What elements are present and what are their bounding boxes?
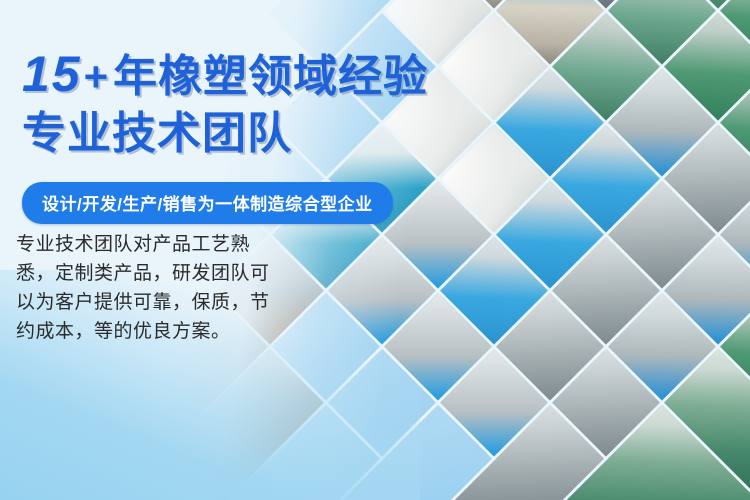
tile-conveyor xyxy=(661,0,750,183)
text-panel: 15+年橡塑领域经验 专业技术团队 设计/开发/生产/销售为一体制造综合型企业 … xyxy=(0,0,470,500)
tile-crowd xyxy=(437,0,663,71)
tile-benches xyxy=(549,405,750,500)
business-scope-badge: 设计/开发/生产/销售为一体制造综合型企业 xyxy=(22,182,393,224)
tile-crowd xyxy=(437,0,663,183)
plus-sign: + xyxy=(84,53,114,100)
tile-lab xyxy=(437,69,663,295)
tile-mold-press xyxy=(549,0,750,71)
headline-line-2: 专业技术团队 xyxy=(22,108,292,160)
tile-inspect xyxy=(549,293,750,500)
tile-assembly xyxy=(661,0,750,71)
tile-machine xyxy=(549,181,750,407)
tile-assembly xyxy=(493,13,719,239)
tile-conveyor xyxy=(661,293,750,500)
tile-machine xyxy=(437,405,663,500)
tile-lab xyxy=(437,181,663,407)
headline-line-1-rest: 年橡塑领域经验 xyxy=(113,52,428,101)
company-strength-banner: 15+年橡塑领域经验 专业技术团队 设计/开发/生产/销售为一体制造综合型企业 … xyxy=(0,0,750,500)
headline-line-1: 15+年橡塑领域经验 xyxy=(22,48,428,103)
tile-conveyor xyxy=(661,69,750,295)
tile-inspect xyxy=(549,69,750,295)
tile-machine xyxy=(437,293,663,500)
body-copy: 专业技术团队对产品工艺熟悉，定制类产品，研发团队可以为客户提供可靠，保质，节约成… xyxy=(16,230,284,346)
tile-machine xyxy=(493,237,719,463)
tile-machine xyxy=(493,349,719,500)
tile-inspect xyxy=(605,237,750,463)
tile-conveyor xyxy=(605,13,750,239)
experience-years-number: 15 xyxy=(22,46,84,102)
tile-mold-press xyxy=(493,0,719,127)
tile-inspect xyxy=(661,181,750,407)
tile-benches xyxy=(605,349,750,500)
tile-assembly xyxy=(549,0,750,183)
tile-lab xyxy=(493,125,719,351)
tile-benches xyxy=(605,0,750,127)
tile-machine xyxy=(605,125,750,351)
